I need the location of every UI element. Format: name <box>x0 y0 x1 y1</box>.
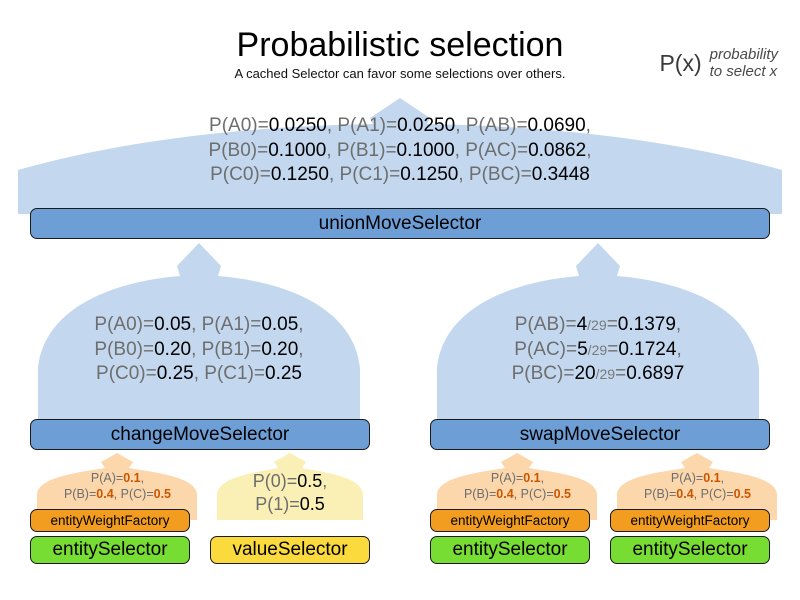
node-change-move-selector-label: changeMoveSelector <box>111 424 290 446</box>
node-entity-selector-label-1: entitySelector <box>52 539 167 561</box>
probability-value: 0.1250 <box>271 164 329 185</box>
probability-label: P(A1)= <box>337 115 397 136</box>
probability-label: P(1)= <box>255 494 300 514</box>
probability-label: P(B0)= <box>94 339 154 360</box>
probability-label: P(A0)= <box>94 314 154 335</box>
probability-label: P(AB)= <box>515 314 577 335</box>
legend: P(x) probability to select x <box>659 46 778 81</box>
probability-value: 0.1 <box>123 471 140 485</box>
probability-label: P(B)= <box>644 487 676 501</box>
probability-label: P(C0)= <box>96 363 157 384</box>
probability-value: 0.0862 <box>528 140 586 161</box>
node-entity-selector-label-2: entitySelector <box>452 539 567 561</box>
probability-separator: , <box>694 487 701 501</box>
node-entity-weight-factory-2[interactable]: entityWeightFactory <box>430 509 590 532</box>
probability-label: P(C1)= <box>204 363 265 384</box>
probability-value: 0.20 <box>154 339 191 360</box>
probability-label: P(B0)= <box>209 140 269 161</box>
probability-value: 0.20 <box>261 339 298 360</box>
node-entity-weight-factory-label-1: entityWeightFactory <box>50 513 169 528</box>
node-entity-weight-factory-3[interactable]: entityWeightFactory <box>610 509 770 532</box>
probability-value: 0.4 <box>496 487 513 501</box>
node-union-move-selector[interactable]: unionMoveSelector <box>30 208 770 239</box>
node-value-selector-label: valueSelector <box>232 539 347 561</box>
probability-label: P(AC)= <box>514 339 577 360</box>
probability-separator: , <box>455 140 466 161</box>
probability-fraction-denominator: /29 <box>596 366 616 382</box>
probability-separator: , <box>326 140 337 161</box>
probability-value: 0.0250 <box>397 115 455 136</box>
probability-equals: = <box>607 339 618 360</box>
probability-value: 0.1000 <box>268 140 326 161</box>
probability-value: 0.1 <box>703 471 720 485</box>
probability-value: 0.5 <box>734 487 751 501</box>
legend-symbol: P(x) <box>659 50 701 77</box>
node-swap-move-selector-label: swapMoveSelector <box>520 424 681 446</box>
node-entity-selector-2[interactable]: entitySelector <box>430 536 590 564</box>
probability-label: P(A)= <box>491 471 523 485</box>
probability-separator: , <box>676 339 681 360</box>
node-union-move-selector-label: unionMoveSelector <box>319 213 482 235</box>
entity-weights-text-1: P(A)=0.1,P(B)=0.4, P(C)=0.5 <box>30 470 205 503</box>
node-entity-selector-label-3: entitySelector <box>632 539 747 561</box>
probability-label: P(A1)= <box>202 314 262 335</box>
probability-separator: , <box>194 363 205 384</box>
probability-separator: , <box>586 140 591 161</box>
probability-value: 0.5 <box>300 494 325 514</box>
probability-separator: , <box>721 471 724 485</box>
change-probabilities: P(A0)=0.05, P(A1)=0.05,P(B0)=0.20, P(B1)… <box>38 313 360 387</box>
probability-value: 0.4 <box>676 487 693 501</box>
probability-value: 0.5 <box>554 487 571 501</box>
probability-separator: , <box>191 314 202 335</box>
probability-label: P(BC)= <box>512 363 575 384</box>
probability-label: P(BC)= <box>469 164 532 185</box>
probability-fraction-numerator: 20 <box>574 363 595 384</box>
probability-value: 0.4 <box>96 487 113 501</box>
probability-label: P(C1)= <box>340 164 401 185</box>
probability-separator: , <box>458 164 469 185</box>
probability-separator: , <box>586 115 591 136</box>
node-entity-weight-factory-1[interactable]: entityWeightFactory <box>30 509 190 532</box>
probability-value: 0.05 <box>261 314 298 335</box>
probability-label: P(AB)= <box>466 115 528 136</box>
probability-value: 0.1000 <box>397 140 455 161</box>
probability-fraction-denominator: /29 <box>587 317 607 333</box>
probability-separator: , <box>676 314 681 335</box>
swap-probabilities: P(AB)=4/29=0.1379,P(AC)=5/29=0.1724,P(BC… <box>437 313 759 387</box>
probability-label: P(C)= <box>521 487 554 501</box>
probability-value: 0.1250 <box>400 164 458 185</box>
probability-value: 0.05 <box>154 314 191 335</box>
probability-value: 0.0690 <box>528 115 586 136</box>
probability-equals: = <box>607 314 618 335</box>
entity-weights-text-2: P(A)=0.1,P(B)=0.4, P(C)=0.5 <box>430 470 605 503</box>
legend-description: probability to select x <box>710 46 778 81</box>
probability-label: P(A)= <box>91 471 123 485</box>
probability-equals: = <box>615 363 626 384</box>
probability-value: 0.25 <box>265 363 302 384</box>
probability-separator: , <box>298 339 303 360</box>
node-entity-weight-factory-label-3: entityWeightFactory <box>630 513 749 528</box>
probability-label: P(AC)= <box>465 140 528 161</box>
probability-fraction-numerator: 4 <box>577 314 588 335</box>
node-entity-selector-1[interactable]: entitySelector <box>30 536 190 564</box>
entity-weights-text-3: P(A)=0.1,P(B)=0.4, P(C)=0.5 <box>610 470 785 503</box>
probability-value: 0.0250 <box>269 115 327 136</box>
probability-separator: , <box>329 164 340 185</box>
probability-label: P(B1)= <box>202 339 262 360</box>
probability-label: P(0)= <box>253 471 298 491</box>
value-probabilities-text: P(0)=0.5,P(1)=0.5 <box>210 470 370 517</box>
probability-value: 0.1724 <box>618 339 676 360</box>
node-value-selector[interactable]: valueSelector <box>210 536 370 564</box>
probability-label: P(B1)= <box>337 140 397 161</box>
node-entity-weight-factory-label-2: entityWeightFactory <box>450 513 569 528</box>
node-entity-selector-3[interactable]: entitySelector <box>610 536 770 564</box>
probability-label: P(C)= <box>121 487 154 501</box>
probability-label: P(A)= <box>671 471 703 485</box>
probability-separator: , <box>322 471 327 491</box>
probability-value: 0.5 <box>154 487 171 501</box>
node-change-move-selector[interactable]: changeMoveSelector <box>30 419 370 450</box>
union-probabilities: P(A0)=0.0250, P(A1)=0.0250, P(AB)=0.0690… <box>18 114 782 188</box>
probability-value: 0.3448 <box>532 164 590 185</box>
probability-separator: , <box>327 115 338 136</box>
probability-fraction-numerator: 5 <box>577 339 588 360</box>
legend-line-2: to select x <box>710 63 778 80</box>
probability-label: P(B)= <box>464 487 496 501</box>
probability-separator: , <box>298 314 303 335</box>
legend-line-1: probability <box>710 46 778 63</box>
probability-separator: , <box>541 471 544 485</box>
probability-separator: , <box>514 487 521 501</box>
probability-value: 0.6897 <box>626 363 684 384</box>
probability-separator: , <box>191 339 202 360</box>
probability-label: P(C0)= <box>210 164 271 185</box>
probability-separator: , <box>114 487 121 501</box>
probability-fraction-denominator: /29 <box>588 342 608 358</box>
probability-separator: , <box>455 115 466 136</box>
probability-value: 0.1379 <box>618 314 676 335</box>
probability-value: 0.25 <box>157 363 194 384</box>
node-swap-move-selector[interactable]: swapMoveSelector <box>430 419 770 450</box>
probability-label: P(C)= <box>701 487 734 501</box>
diagram-canvas: Probabilistic selection A cached Selecto… <box>0 0 800 600</box>
probability-separator: , <box>141 471 144 485</box>
probability-label: P(B)= <box>64 487 96 501</box>
probability-value: 0.1 <box>523 471 540 485</box>
probability-value: 0.5 <box>297 471 322 491</box>
probability-label: P(A0)= <box>209 115 269 136</box>
